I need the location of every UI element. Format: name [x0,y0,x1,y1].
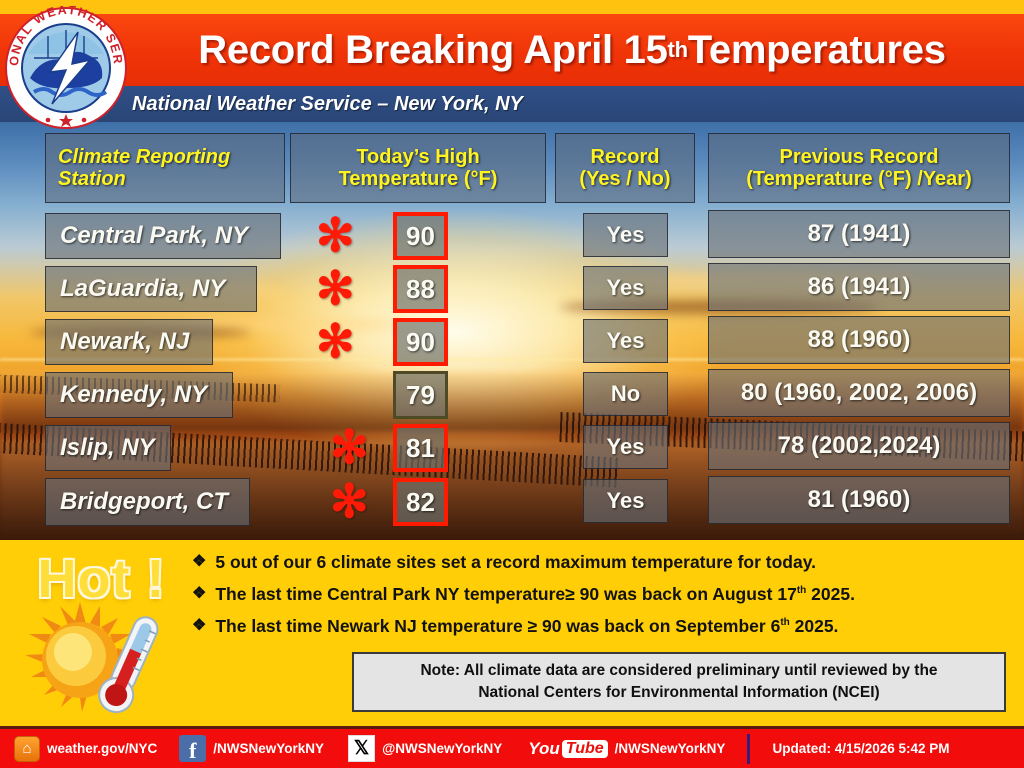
record-asterisk-icon: ✻ [316,265,355,311]
table-row-previous-record: 81 (1960) [708,476,1010,524]
column-header-today-high: Today’s High Temperature (°F) [290,133,546,203]
table-row-previous-record: 87 (1941) [708,210,1010,258]
diamond-bullet-icon: ❖ [192,584,206,604]
header-line: Station [58,168,126,190]
bullet-text-pre: The last time Newark NJ temperature ≥ 90… [215,616,780,636]
bullet-text-sup: th [797,585,806,596]
table-row-previous-record: 86 (1941) [708,263,1010,311]
bullet-text-pre: The last time Central Park NY temperatur… [215,584,796,604]
record-asterisk-icon: ✻ [330,424,369,470]
bullet-text: The last time Central Park NY temperatur… [215,584,855,605]
table-row-station: LaGuardia, NY [45,266,257,312]
table-row-high-temp: 81 [393,424,448,472]
infographic-page: Record Breaking April 15th Temperatures … [0,0,1024,768]
table-row-high-temp: 90 [393,318,448,366]
nws-seal-icon: NATIONAL WEATHER SERVICE [4,6,128,130]
table-row-station: Islip, NY [45,425,171,471]
table-row-previous-record: 78 (2002,2024) [708,422,1010,470]
table-row-high-temp: 79 [393,371,448,419]
table-row-station: Central Park, NY [45,213,281,259]
header-line: Record [591,146,660,168]
column-header-record: Record (Yes / No) [555,133,695,203]
table-row-station: Kennedy, NY [45,372,233,418]
header-line: Previous Record [780,146,939,168]
table-row-station: Bridgeport, CT [45,478,250,526]
header-line: Temperature (°F) [339,168,498,190]
table-row-high-temp: 88 [393,265,448,313]
table-row-record-flag: No [583,372,668,416]
header-line: Climate Reporting [58,146,230,168]
header-line: (Temperature (°F) /Year) [746,168,971,190]
table-row-record-flag: Yes [583,266,668,310]
list-item: ❖ The last time Central Park NY temperat… [192,584,1016,605]
bullet-list: ❖ 5 out of our 6 climate sites set a rec… [192,552,1016,648]
table-row-record-flag: Yes [583,479,668,523]
diamond-bullet-icon: ❖ [192,616,206,636]
bullet-text: 5 out of our 6 climate sites set a recor… [215,552,816,573]
table-row-previous-record: 80 (1960, 2002, 2006) [708,369,1010,417]
header-line: Today’s High [356,146,479,168]
preliminary-data-note: Note: All climate data are considered pr… [352,652,1006,712]
table-row-record-flag: Yes [583,213,668,257]
record-asterisk-icon: ✻ [316,318,355,364]
bullet-text-sup: th [780,617,789,628]
column-header-previous-record: Previous Record (Temperature (°F) /Year) [708,133,1010,203]
bullet-text-post: 2025. [790,616,839,636]
table-row-station: Newark, NJ [45,319,213,365]
note-line: National Centers for Environmental Infor… [478,682,879,704]
bullet-text-post: 2025. [806,584,855,604]
table-row-high-temp: 90 [393,212,448,260]
diamond-bullet-icon: ❖ [192,552,206,572]
table-row-high-temp: 82 [393,478,448,526]
table-row-record-flag: Yes [583,319,668,363]
note-line: Note: All climate data are considered pr… [420,660,937,682]
bullet-text: The last time Newark NJ temperature ≥ 90… [215,616,838,637]
sun-thermometer-icon [18,598,186,718]
column-header-station: Climate Reporting Station [45,133,285,203]
record-asterisk-icon: ✻ [316,212,355,258]
table-row-previous-record: 88 (1960) [708,316,1010,364]
table-row-record-flag: Yes [583,425,668,469]
header-line: (Yes / No) [579,168,670,190]
record-asterisk-icon: ✻ [330,478,369,524]
list-item: ❖ The last time Newark NJ temperature ≥ … [192,616,1016,637]
list-item: ❖ 5 out of our 6 climate sites set a rec… [192,552,1016,573]
